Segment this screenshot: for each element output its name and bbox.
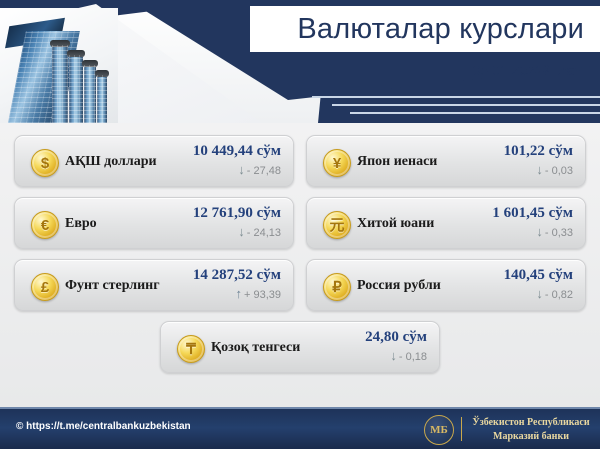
pound-symbol: £ [41,280,49,295]
currency-name: Евро [65,198,97,250]
trend-down-icon: ↓ [536,162,543,177]
change-amount: - 0,03 [545,165,573,177]
currency-card-eur[interactable]: € Евро 12 761,90 сўм ↓- 24,13 [14,197,294,249]
bank-name-line-2: Марказий банки [470,430,592,444]
trend-down-icon: ↓ [536,224,543,239]
yen-symbol: ¥ [333,156,341,171]
trend-down-icon: ↓ [390,348,397,363]
currency-rates-area: $ АҚШ доллари 10 449,44 сўм ↓- 27,48 ¥ Я… [0,123,600,407]
yen-coin-icon: ¥ [323,149,351,177]
building-tower-2-windows [69,55,83,123]
change-amount: - 27,48 [247,165,281,177]
currency-value-group: 1 601,45 сўм ↓- 0,33 [492,205,573,239]
currency-change: ↓- 0,33 [492,225,573,239]
currency-value-group: 140,45 сўм ↓- 0,82 [504,267,573,301]
currency-rate: 10 449,44 сўм [193,143,281,160]
decorative-line-3 [350,112,600,114]
decorative-line-1 [312,96,600,98]
page-title: Валюталар курслари [297,13,584,46]
bank-building-image [0,8,118,123]
currency-value-group: 12 761,90 сўм ↓- 24,13 [193,205,281,239]
currency-name: Россия рубли [357,260,441,312]
pound-coin-icon: £ [31,273,59,301]
currency-name: Фунт стерлинг [65,260,160,312]
currency-value-group: 14 287,52 сўм ↑+ 93,39 [193,267,281,301]
ruble-symbol: ₽ [332,280,342,295]
change-amount: - 0,82 [545,289,573,301]
currency-rate: 1 601,45 сўм [492,205,573,222]
currency-name: АҚШ доллари [65,136,157,188]
currency-rate: 14 287,52 сўм [193,267,281,284]
telegram-link[interactable]: © https://t.me/centralbankuzbekistan [16,421,191,432]
currency-change: ↓- 0,18 [365,349,427,363]
building-tower-2 [69,55,83,123]
central-bank-emblem-icon: МБ [424,415,454,445]
change-amount: - 0,18 [399,351,427,363]
building-tower-1 [52,45,68,123]
tenge-coin-icon: ₸ [177,335,205,363]
ruble-coin-icon: ₽ [323,273,351,301]
change-amount: - 24,13 [247,227,281,239]
building-tower-1-windows [52,45,68,123]
currency-card-grid: $ АҚШ доллари 10 449,44 сўм ↓- 27,48 ¥ Я… [14,135,586,373]
currency-name: Япон иенаси [357,136,437,188]
building-tower-4 [97,75,107,123]
dollar-coin-icon: $ [31,149,59,177]
trend-up-icon: ↑ [235,286,242,301]
euro-coin-icon: € [31,211,59,239]
currency-change: ↓- 27,48 [193,163,281,177]
effective-date: 05.01.2021й. дан [473,62,582,78]
footer-divider [461,417,462,441]
currency-card-cny[interactable]: 元 Хитой юани 1 601,45 сўм ↓- 0,33 [306,197,586,249]
euro-symbol: € [41,218,49,233]
currency-card-jpy[interactable]: ¥ Япон иенаси 101,22 сўм ↓- 0,03 [306,135,586,187]
bank-name: Ўзбекистон Республикаси Марказий банки [470,416,592,443]
trend-down-icon: ↓ [536,286,543,301]
currency-rate: 101,22 сўм [504,143,573,160]
currency-card-usd[interactable]: $ АҚШ доллари 10 449,44 сўм ↓- 27,48 [14,135,294,187]
currency-value-group: 10 449,44 сўм ↓- 27,48 [193,143,281,177]
currency-rate: 12 761,90 сўм [193,205,281,222]
currency-value-group: 24,80 сўм ↓- 0,18 [365,329,427,363]
currency-name: Хитой юани [357,198,434,250]
yuan-coin-icon: 元 [323,211,351,239]
currency-change: ↓- 24,13 [193,225,281,239]
emblem-monogram: МБ [430,425,448,436]
currency-change: ↑+ 93,39 [193,287,281,301]
change-amount: - 0,33 [545,227,573,239]
currency-rate: 140,45 сўм [504,267,573,284]
currency-rate: 24,80 сўм [365,329,427,346]
tenge-symbol: ₸ [186,342,196,357]
trend-down-icon: ↓ [238,224,245,239]
currency-change: ↓- 0,82 [504,287,573,301]
trend-down-icon: ↓ [238,162,245,177]
currency-card-gbp[interactable]: £ Фунт стерлинг 14 287,52 сўм ↑+ 93,39 [14,259,294,311]
currency-value-group: 101,22 сўм ↓- 0,03 [504,143,573,177]
footer-top-rule [0,407,600,409]
decorative-line-2 [332,104,600,106]
bank-name-line-1: Ўзбекистон Республикаси [470,416,592,430]
dollar-symbol: $ [41,156,49,171]
title-band: Валюталар курслари [250,6,600,52]
page-header: Валюталар курслари 05.01.2021й. дан [0,0,600,123]
currency-card-rub[interactable]: ₽ Россия рубли 140,45 сўм ↓- 0,82 [306,259,586,311]
page-footer: © https://t.me/centralbankuzbekistan МБ … [0,407,600,449]
building-tower-4-windows [97,75,107,123]
change-amount: + 93,39 [244,289,281,301]
yuan-symbol: 元 [329,218,344,233]
currency-name: Қозоқ тенгеси [211,322,300,374]
currency-card-kzt[interactable]: ₸ Қозоқ тенгеси 24,80 сўм ↓- 0,18 [160,321,440,373]
currency-change: ↓- 0,03 [504,163,573,177]
bottom-card-row: ₸ Қозоқ тенгеси 24,80 сўм ↓- 0,18 [14,321,586,373]
